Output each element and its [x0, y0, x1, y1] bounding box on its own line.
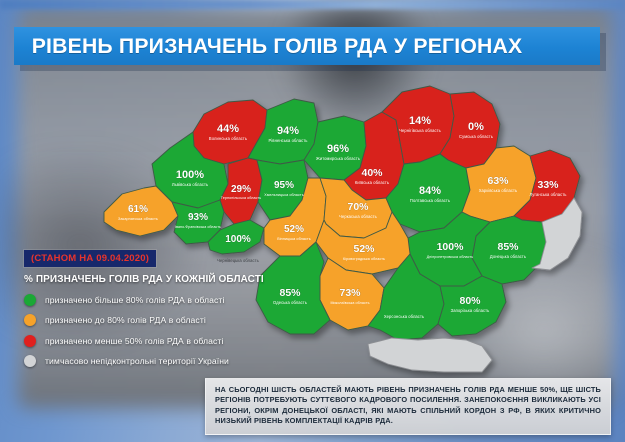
legend-dot-gray-icon — [24, 355, 36, 367]
legend-label-orange: призначено до 80% голів РДА в області — [45, 315, 206, 325]
region-crimea[interactable] — [368, 338, 492, 372]
legend-item-orange[interactable]: призначено до 80% голів РДА в області — [24, 314, 304, 326]
region-ternopil[interactable] — [220, 158, 262, 224]
legend-label-red: призначено менше 50% голів РДА в області — [45, 336, 223, 346]
summary-note-text: НА СЬОГОДНІ ШІСТЬ ОБЛАСТЕЙ МАЮТЬ РІВЕНЬ … — [215, 385, 601, 427]
background-top-strip — [0, 0, 625, 9]
legend-item-red[interactable]: призначено менше 50% голів РДА в області — [24, 335, 304, 347]
legend-dot-red-icon — [24, 335, 36, 347]
legend-item-green[interactable]: призначено більше 80% голів РДА в област… — [24, 294, 304, 306]
date-badge: (СТАНОМ НА 09.04.2020) — [24, 250, 156, 267]
legend-dot-green-icon — [24, 294, 36, 306]
legend-label-gray: тимчасово непідконтрольні території Укра… — [45, 356, 229, 366]
legend: (СТАНОМ НА 09.04.2020) % ПРИЗНАЧЕНЬ ГОЛІ… — [24, 248, 304, 367]
legend-item-gray[interactable]: тимчасово непідконтрольні території Укра… — [24, 355, 304, 367]
page-title-banner: РІВЕНЬ ПРИЗНАЧЕНЬ ГОЛІВ РДА У РЕГІОНАХ — [14, 27, 600, 65]
legend-dot-orange-icon — [24, 314, 36, 326]
page-title: РІВЕНЬ ПРИЗНАЧЕНЬ ГОЛІВ РДА У РЕГІОНАХ — [14, 34, 522, 59]
summary-note-box: НА СЬОГОДНІ ШІСТЬ ОБЛАСТЕЙ МАЮТЬ РІВЕНЬ … — [205, 378, 611, 435]
legend-subtitle: % ПРИЗНАЧЕНЬ ГОЛІВ РДА У КОЖНІЙ ОБЛАСТІ — [24, 274, 304, 285]
legend-label-green: призначено більше 80% голів РДА в област… — [45, 295, 224, 305]
